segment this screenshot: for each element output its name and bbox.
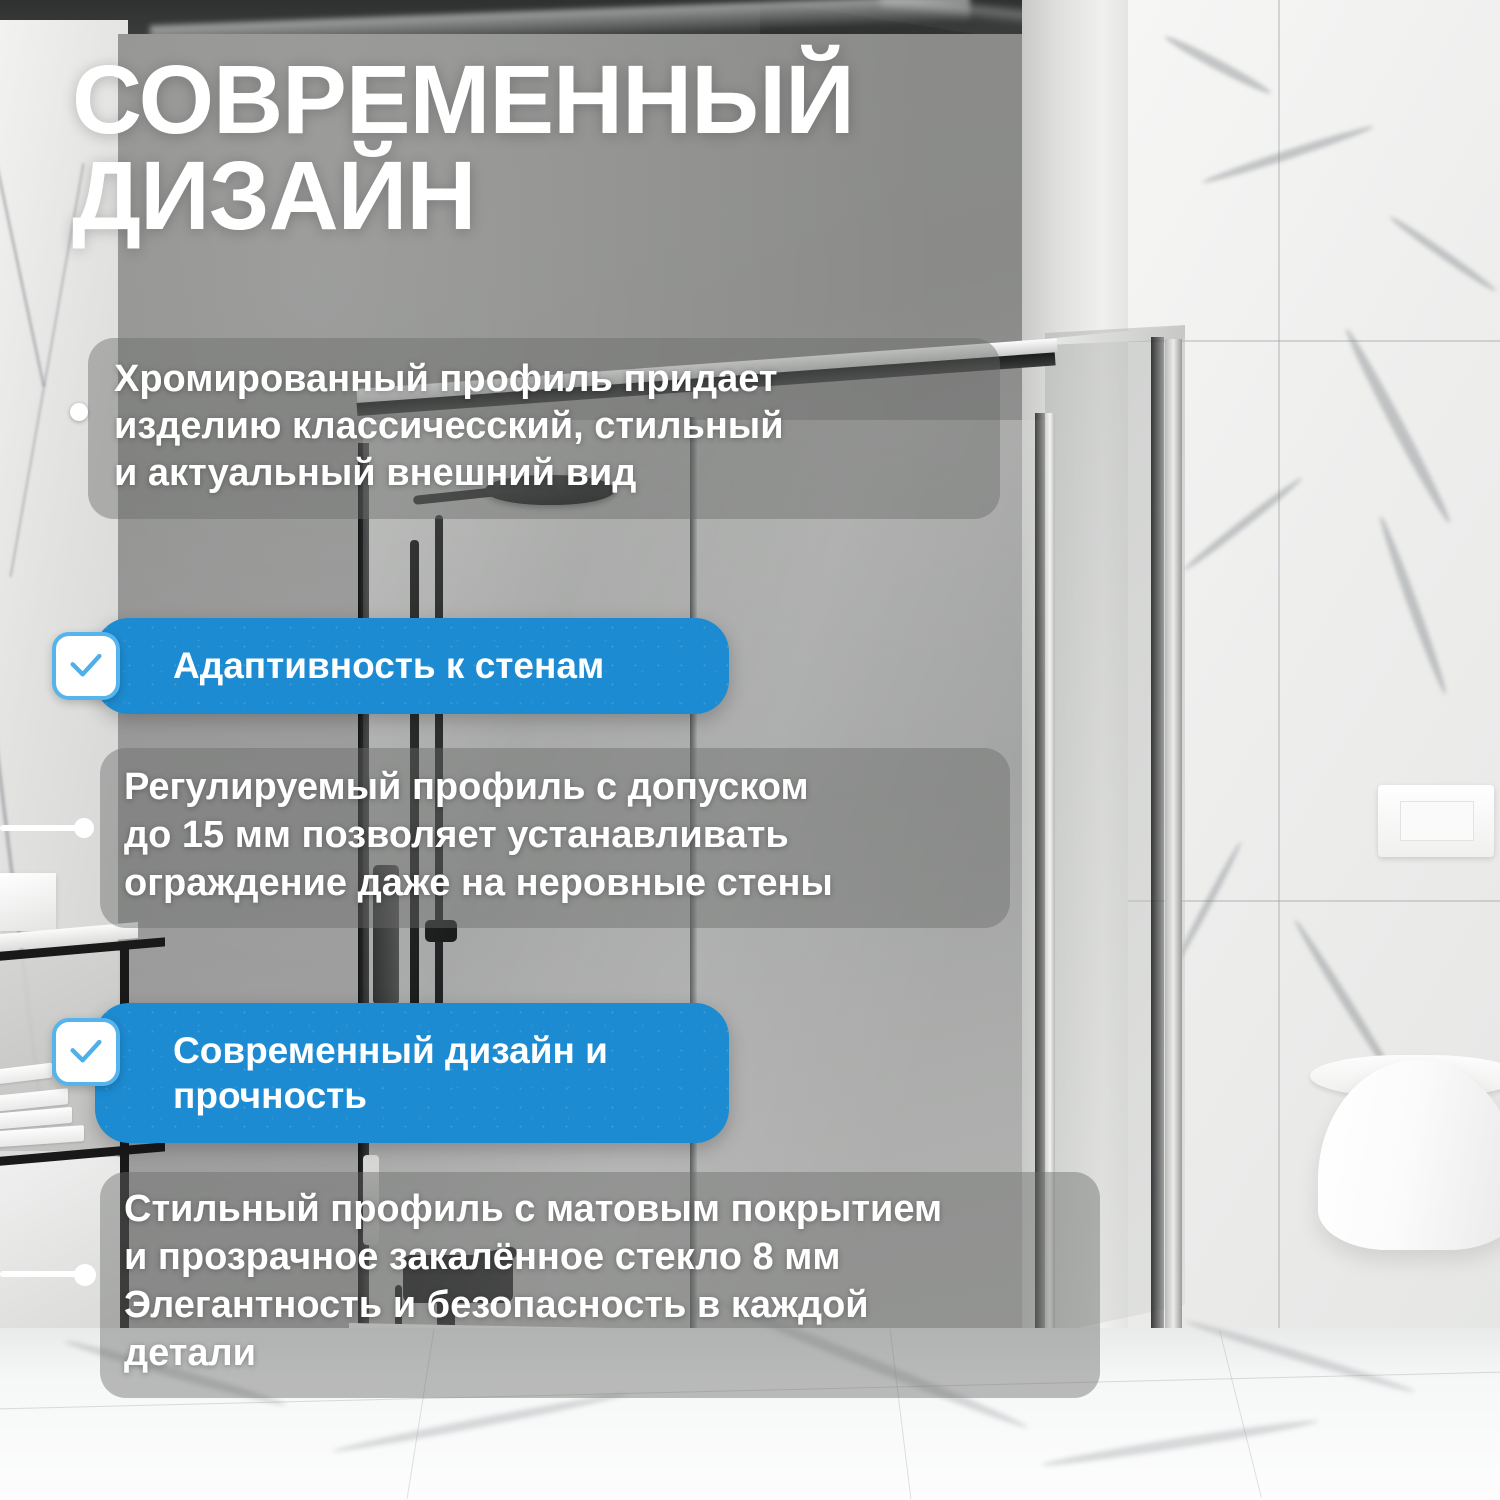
feature-line: Регулируемый профиль с допуском bbox=[124, 764, 986, 812]
promo-banner: СОВРЕМЕННЫЙ ДИЗАЙН Хромированный профиль… bbox=[0, 0, 1500, 1500]
page-title: СОВРЕМЕННЫЙ ДИЗАЙН bbox=[72, 52, 1052, 244]
feature-text-adjustable-profile: Регулируемый профиль с допуском до 15 мм… bbox=[100, 748, 1010, 928]
badge-line: Современный дизайн и bbox=[173, 1028, 608, 1073]
badge-label: Современный дизайн и прочность bbox=[173, 1028, 608, 1118]
feature-line: и прозрачное закалённое стекло 8 мм bbox=[124, 1234, 1076, 1282]
title-line-2: ДИЗАЙН bbox=[72, 148, 1052, 244]
feature-line: изделию классичесский, стильный bbox=[114, 403, 974, 450]
feature-text-matte-profile-glass: Стильный профиль с матовым покрытием и п… bbox=[100, 1172, 1100, 1398]
feature-line: Стильный профиль с матовым покрытием bbox=[124, 1186, 1076, 1234]
feature-line: и актуальный внешний вид bbox=[114, 450, 974, 497]
leader-dot bbox=[74, 1264, 96, 1286]
title-line-1: СОВРЕМЕННЫЙ bbox=[72, 52, 1052, 148]
feature-text-chrome-profile: Хромированный профиль придает изделию кл… bbox=[88, 338, 1000, 519]
feature-line: до 15 мм позволяет устанавливать bbox=[124, 812, 986, 860]
feature-line: детали bbox=[124, 1330, 1076, 1378]
content-overlay: СОВРЕМЕННЫЙ ДИЗАЙН Хромированный профиль… bbox=[0, 0, 1500, 1500]
feature-line: ограждение даже на неровные стены bbox=[124, 860, 986, 908]
leader-dot bbox=[74, 818, 94, 838]
badge-label: Адаптивность к стенам bbox=[173, 643, 604, 688]
check-icon bbox=[52, 632, 120, 700]
badge-line: прочность bbox=[173, 1073, 608, 1118]
badge-wall-adaptivity[interactable]: Адаптивность к стенам bbox=[95, 618, 729, 714]
bullet-dot-marker bbox=[70, 403, 88, 421]
check-icon bbox=[52, 1018, 120, 1086]
badge-line: Адаптивность к стенам bbox=[173, 643, 604, 688]
feature-line: Хромированный профиль придает bbox=[114, 356, 974, 403]
badge-modern-design-strength[interactable]: Современный дизайн и прочность bbox=[95, 1003, 729, 1143]
feature-line: Элегантность и безопасность в каждой bbox=[124, 1282, 1076, 1330]
